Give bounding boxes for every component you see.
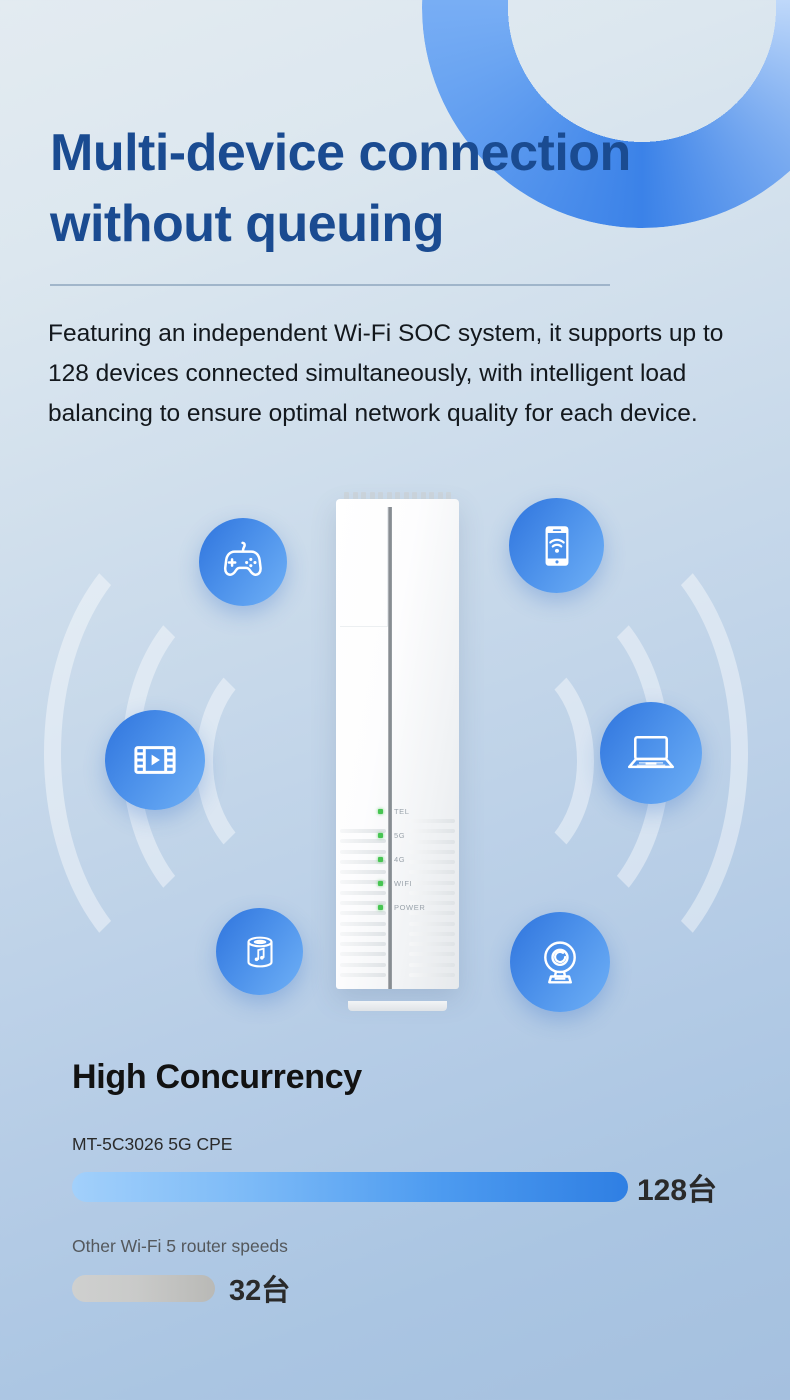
led-indicator-icon bbox=[378, 881, 383, 886]
led-indicator-icon bbox=[378, 809, 383, 814]
bar-value-secondary: 32台 bbox=[229, 1267, 290, 1309]
title-divider bbox=[50, 284, 610, 286]
progress-bar-primary bbox=[72, 1172, 628, 1202]
led-label: 5G bbox=[394, 831, 405, 840]
led-indicator-icon bbox=[378, 857, 383, 862]
device-bubble-smartphone bbox=[509, 498, 604, 593]
bar-label-secondary: Other Wi-Fi 5 router speeds bbox=[72, 1236, 288, 1257]
video-film-icon bbox=[128, 733, 182, 787]
router-device: TEL 5G 4G WIFI POWER bbox=[330, 492, 465, 1007]
led-row-4g: 4G bbox=[378, 847, 456, 871]
router-panel-seam bbox=[340, 507, 388, 627]
device-bubble-gaming-console bbox=[199, 518, 287, 606]
led-row-tel: TEL bbox=[378, 799, 456, 823]
bar-label-primary: MT-5C3026 5G CPE bbox=[72, 1134, 232, 1155]
page-description: Featuring an independent Wi-Fi SOC syste… bbox=[48, 314, 748, 434]
led-label: POWER bbox=[394, 903, 425, 912]
led-indicator-icon bbox=[378, 905, 383, 910]
led-row-power: POWER bbox=[378, 895, 456, 919]
hero-stage: TEL 5G 4G WIFI POWER bbox=[0, 480, 790, 1025]
device-bubble-laptop bbox=[600, 702, 702, 804]
gamepad-icon bbox=[218, 537, 268, 587]
led-label: WIFI bbox=[394, 879, 412, 888]
device-bubble-smart-speaker bbox=[216, 908, 303, 995]
router-led-panel: TEL 5G 4G WIFI POWER bbox=[378, 799, 456, 919]
led-label: 4G bbox=[394, 855, 405, 864]
webcam-icon bbox=[532, 934, 588, 990]
device-bubble-video-streaming bbox=[105, 710, 205, 810]
page-title: Multi-device connection without queuing bbox=[50, 118, 760, 259]
led-row-5g: 5G bbox=[378, 823, 456, 847]
progress-bar-secondary bbox=[72, 1275, 215, 1302]
smartphone-wifi-icon bbox=[532, 521, 582, 571]
laptop-icon bbox=[622, 724, 680, 782]
led-label: TEL bbox=[394, 807, 410, 816]
led-row-wifi: WIFI bbox=[378, 871, 456, 895]
bar-row-secondary: 32台 bbox=[72, 1267, 290, 1309]
router-base bbox=[348, 1001, 447, 1011]
smart-speaker-icon bbox=[237, 929, 283, 975]
led-indicator-icon bbox=[378, 833, 383, 838]
router-body: TEL 5G 4G WIFI POWER bbox=[336, 499, 459, 989]
bar-value-primary: 128台 bbox=[637, 1165, 717, 1209]
bar-row-primary: 128台 bbox=[72, 1165, 717, 1209]
device-bubble-security-camera bbox=[510, 912, 610, 1012]
section-title-high-concurrency: High Concurrency bbox=[72, 1058, 362, 1097]
